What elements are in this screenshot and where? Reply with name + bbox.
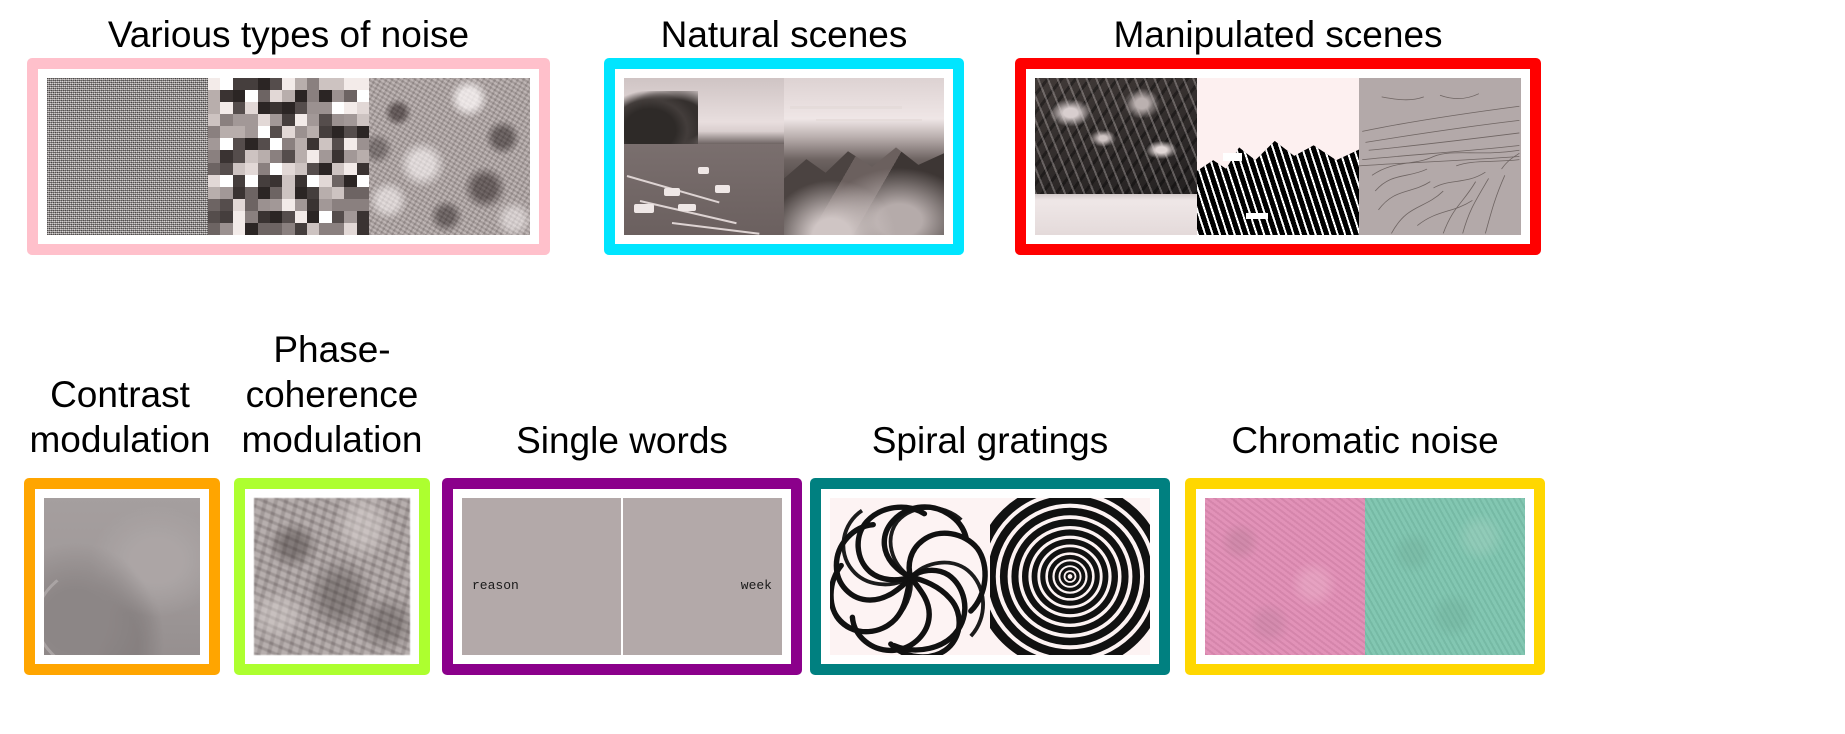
noise-block [233,223,246,235]
line-drawing-svg [1359,78,1521,235]
noise-block [307,175,320,188]
panel-frame-chromatic-noise [1185,478,1545,675]
noise-block [282,126,295,139]
panel-title-phase-coherence-modulation: Phase- coherence modulation [232,327,432,462]
noise-block [332,102,345,115]
noise-block [270,223,283,235]
noise-block [258,102,271,115]
tile-concentric-grating [990,498,1150,655]
noise-block [220,163,233,176]
panel-frame-contrast-modulation [24,478,220,675]
panel-title-contrast-modulation: Contrast modulation [20,372,220,462]
noise-block [295,114,308,127]
noise-block [258,150,271,163]
tile-green-chromatic-noise [1365,498,1525,655]
noise-block [233,150,246,163]
noise-block [233,78,246,91]
panel-title-spiral-gratings: Spiral gratings [810,418,1170,463]
noise-block [319,102,332,115]
highway-curve [44,558,200,655]
noise-block [245,223,258,235]
noise-block [245,199,258,212]
noise-block [357,114,369,127]
noise-block [282,78,295,91]
noise-block [245,163,258,176]
noise-block [270,138,283,151]
noise-block [282,138,295,151]
noise-block [344,114,357,127]
mountain-ridge [784,138,944,235]
noise-block [357,90,369,103]
tile-block-noise [208,78,369,235]
panel-title-single-words: Single words [442,418,802,463]
noise-block [282,211,295,224]
noise-block [270,187,283,200]
noise-block [245,175,258,188]
noise-block [319,163,332,176]
panel-frame-phase-coherence-modulation [234,478,430,675]
noise-block [332,126,345,139]
noise-block [270,102,283,115]
noise-block [258,138,271,151]
noise-block [332,199,345,212]
noise-block [258,187,271,200]
noise-block [220,138,233,151]
noise-block [258,211,271,224]
noise-block [270,163,283,176]
noise-block [220,126,233,139]
noise-block [270,211,283,224]
noise-block [332,114,345,127]
noise-block [245,102,258,115]
noise-block [220,199,233,212]
noise-block [233,126,246,139]
noise-block [332,150,345,163]
canyon-rock-face [1035,78,1197,194]
noise-block [282,102,295,115]
noise-block [220,175,233,188]
noise-block [357,78,369,91]
noise-block [357,223,369,235]
noise-block [233,199,246,212]
noise-block [208,175,221,188]
noise-block [233,102,246,115]
noise-block [245,126,258,139]
binarized-mountain-mass [1197,128,1359,235]
noise-block [208,150,221,163]
noise-block [295,78,308,91]
noise-block [295,102,308,115]
noise-block [319,78,332,91]
noise-block [245,114,258,127]
noise-block [270,114,283,127]
car [664,188,680,196]
noise-block [357,138,369,151]
noise-block [208,223,221,235]
noise-block [220,114,233,127]
noise-block [220,90,233,103]
noise-block [295,126,308,139]
noise-block [245,211,258,224]
tile-spiral-grating [830,498,990,655]
noise-block [258,199,271,212]
noise-block [282,114,295,127]
noise-block [245,187,258,200]
noise-block [357,126,369,139]
panel-frame-spiral-gratings [810,478,1170,675]
noise-block [282,187,295,200]
car [634,204,655,213]
panel-title-chromatic-noise: Chromatic noise [1185,418,1545,463]
tile-line-drawing [1359,78,1521,235]
noise-block [282,90,295,103]
noise-block [332,223,345,235]
noise-block [307,187,320,200]
noise-block [344,78,357,91]
noise-block [319,138,332,151]
car [698,167,709,173]
noise-block [332,90,345,103]
panel-title-natural-scenes: Natural scenes [604,12,964,57]
noise-block [208,90,221,103]
cloud-streak [790,106,902,109]
noise-block [344,102,357,115]
snow-patch [1246,213,1269,219]
noise-block [258,114,271,127]
cloud-streak [816,119,922,121]
noise-block [295,90,308,103]
panel-title-various-noise: Various types of noise [27,12,550,57]
noise-block [357,163,369,176]
noise-block [208,199,221,212]
noise-block [307,163,320,176]
noise-block [245,138,258,151]
noise-block [344,150,357,163]
tile-canyon-photo [1035,78,1197,235]
noise-block [270,199,283,212]
noise-block [270,175,283,188]
noise-block [319,199,332,212]
noise-block [270,90,283,103]
noise-block [233,187,246,200]
noise-block [208,138,221,151]
noise-block [270,78,283,91]
noise-block [282,199,295,212]
noise-block [258,78,271,91]
panel-frame-natural-scenes [604,58,964,255]
noise-block [344,223,357,235]
noise-block [357,175,369,188]
noise-block [319,114,332,127]
noise-block [344,126,357,139]
noise-block [332,187,345,200]
noise-block [319,223,332,235]
noise-block [332,78,345,91]
noise-block [319,150,332,163]
noise-block [332,138,345,151]
noise-block [357,150,369,163]
noise-block [357,199,369,212]
car [678,204,696,212]
noise-block [295,175,308,188]
noise-block [208,126,221,139]
noise-block [307,90,320,103]
word-label-left: reason [472,578,519,593]
noise-block [282,223,295,235]
noise-block [208,78,221,91]
snow-patch [1223,153,1242,161]
noise-block [220,150,233,163]
noise-block [307,102,320,115]
noise-block [282,150,295,163]
noise-block [295,163,308,176]
noise-block [258,223,271,235]
road-surface [624,144,784,235]
noise-block [344,138,357,151]
noise-block [307,211,320,224]
tile-pink-noise [369,78,530,235]
noise-block [307,138,320,151]
panel-frame-manipulated-scenes [1015,58,1541,255]
noise-block [295,138,308,151]
noise-block [357,211,369,224]
noise-block [245,90,258,103]
tile-low-contrast-landscape [44,498,200,655]
noise-block [220,187,233,200]
noise-block [258,90,271,103]
noise-block [319,90,332,103]
noise-block [332,175,345,188]
noise-block [332,163,345,176]
noise-block [208,187,221,200]
noise-block [208,211,221,224]
noise-block [208,163,221,176]
noise-block [295,223,308,235]
noise-block [270,150,283,163]
noise-block [357,102,369,115]
tile-word-right: week [623,498,782,655]
noise-block [319,211,332,224]
tile-phase-scrambled-landscape [254,498,410,655]
noise-block [220,223,233,235]
noise-block [220,78,233,91]
noise-block [295,150,308,163]
noise-block [282,175,295,188]
word-label-right: week [741,578,772,593]
noise-block [344,211,357,224]
noise-block [233,90,246,103]
spiral-grating-svg [830,498,990,655]
noise-block [344,90,357,103]
noise-block [319,126,332,139]
noise-block [307,199,320,212]
noise-block [344,199,357,212]
noise-block [295,187,308,200]
noise-block [245,78,258,91]
noise-block [282,163,295,176]
car [715,185,729,193]
panel-frame-various-noise [27,58,550,255]
tile-white-noise [47,78,208,235]
noise-block [307,223,320,235]
noise-block [233,211,246,224]
noise-block [307,78,320,91]
noise-block [357,187,369,200]
panel-frame-single-words: reason week [442,478,802,675]
noise-block [258,163,271,176]
noise-block [307,150,320,163]
tile-pink-chromatic-noise [1205,498,1365,655]
noise-block [233,114,246,127]
noise-block [319,175,332,188]
noise-block [208,114,221,127]
noise-block [344,175,357,188]
noise-block [344,187,357,200]
tile-mountain-photo [784,78,944,235]
noise-block [258,126,271,139]
noise-block [258,175,271,188]
noise-block [233,138,246,151]
noise-block [233,163,246,176]
noise-block [307,114,320,127]
noise-block [245,150,258,163]
tile-highway-photo [624,78,784,235]
concentric-grating-svg [990,498,1150,655]
tile-binarized-mountain [1197,78,1359,235]
noise-block [295,211,308,224]
noise-block [220,211,233,224]
panel-title-manipulated-scenes: Manipulated scenes [1015,12,1541,57]
noise-block [307,126,320,139]
noise-block [208,102,221,115]
tile-word-left: reason [462,498,621,655]
noise-block [233,175,246,188]
noise-block [270,126,283,139]
noise-block [295,199,308,212]
noise-block [344,163,357,176]
noise-block [319,187,332,200]
noise-block [332,211,345,224]
noise-block [220,102,233,115]
